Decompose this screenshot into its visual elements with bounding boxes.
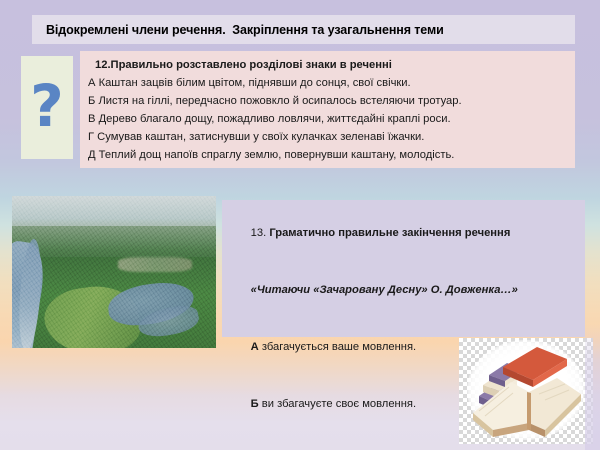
- photo-texture-overlay: [12, 196, 216, 348]
- question-12-option-d[interactable]: Д Теплий дощ напоїв спраглу землю, повер…: [88, 146, 567, 164]
- question-12-option-v[interactable]: В Дерево благало дощу, пожадливо ловлячи…: [88, 110, 567, 128]
- slide-title-banner: Відокремлені члени речення. Закріплення …: [32, 15, 575, 44]
- aerial-river-landscape-photo: [12, 196, 216, 348]
- question-13-quote: «Читаючи «Зачаровану Десну» О. Довженка……: [232, 262, 577, 319]
- question-13-option-a-text: збагачується ваше мовлення.: [259, 341, 416, 353]
- question-13-heading-text: Граматично правильне закінчення речення: [269, 227, 510, 239]
- question-13-option-a-letter: А: [251, 341, 259, 353]
- question-13-number: 13.: [251, 227, 270, 239]
- question-13-heading: 13. Граматично правильне закінчення рече…: [232, 205, 577, 262]
- question-12-option-a[interactable]: А Каштан зацвів білим цвітом, піднявши д…: [88, 74, 567, 92]
- slide-canvas: Відокремлені члени речення. Закріплення …: [0, 0, 600, 450]
- question-13-panel: 13. Граматично правильне закінчення рече…: [222, 200, 585, 337]
- page-title: Відокремлені члени речення. Закріплення …: [32, 23, 444, 37]
- question-12-option-b[interactable]: Б Листя на гіллі, передчасно пожовкло й …: [88, 92, 567, 110]
- question-mark-icon: ?: [30, 77, 64, 135]
- question-12-heading: 12.Правильно розставлено розділові знаки…: [88, 56, 567, 74]
- question-12-option-h[interactable]: Г Сумував каштан, затиснувши у своїх кул…: [88, 128, 567, 146]
- question-mark-badge: ?: [21, 56, 73, 159]
- question-13-quote-text: «Читаючи «Зачаровану Десну» О. Довженка……: [251, 284, 518, 296]
- books-icon: [459, 338, 593, 444]
- question-12-panel: 12.Правильно розставлено розділові знаки…: [80, 51, 575, 168]
- open-book-stack-clipart: [459, 338, 593, 444]
- question-13-option-b-letter: Б: [251, 398, 259, 410]
- question-13-option-b-text: ви збагачуєте своє мовлення.: [259, 398, 416, 410]
